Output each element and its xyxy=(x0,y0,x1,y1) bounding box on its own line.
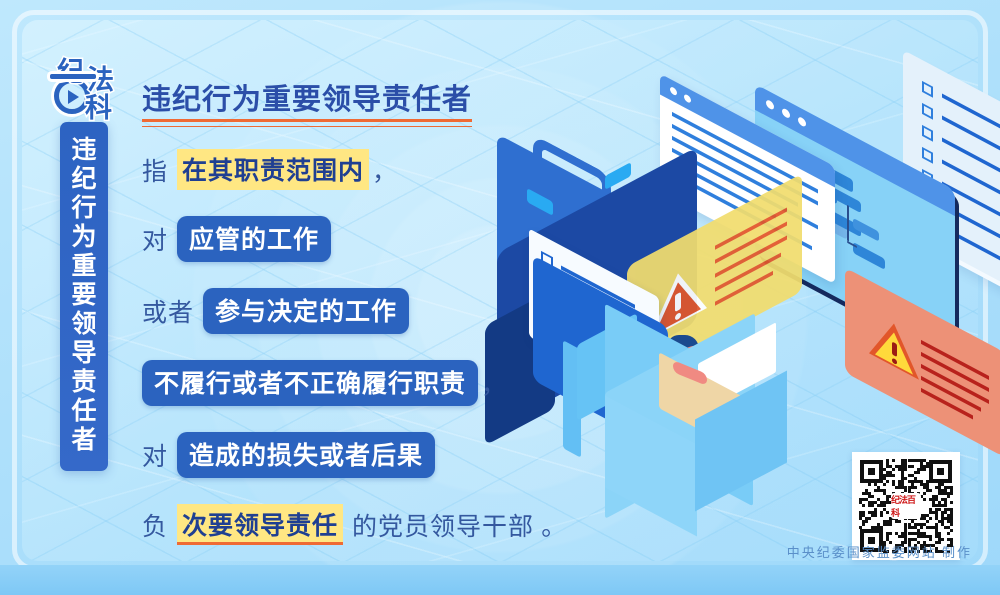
logo-bar xyxy=(50,74,96,79)
line6-prefix: 负 xyxy=(142,507,168,543)
line5-prefix: 对 xyxy=(142,437,168,473)
page-title: 违纪行为重要领导责任者 xyxy=(142,76,472,123)
qr-center-logo: 纪法百科 xyxy=(891,493,921,519)
definition-line-6: 负 次要领导责任 的党员领导干部 。 xyxy=(142,504,612,545)
line4-pill: 不履行或者不正确履行职责 xyxy=(142,360,478,406)
poster-root: 纪 法 科 违 纪 行 为 重 要 领 导 责 任 者 违纪行为重要领导责任者 … xyxy=(0,0,1000,595)
title-underline-thin xyxy=(142,126,472,128)
line5-pill: 造成的损失或者后果 xyxy=(177,432,435,478)
vertical-title-char: 行 xyxy=(60,194,108,223)
definition-line-2: 对 应管的工作 xyxy=(142,216,612,262)
qr-matrix: 纪法百科 xyxy=(859,459,953,553)
vertical-title-char: 为 xyxy=(60,223,108,252)
window-dot-icon xyxy=(684,93,691,104)
line1-prefix: 指 xyxy=(142,152,168,188)
vertical-title-char: 重 xyxy=(60,252,108,281)
main-content: 违纪行为重要领导责任者 指 在其职责范围内 ， 对 应管的工作 或者 参与决定的… xyxy=(142,76,612,545)
line4-suffix: ， xyxy=(478,365,507,401)
line6-highlight: 次要领导责任 xyxy=(177,504,343,545)
play-icon xyxy=(68,90,79,104)
logo-char-ji: 纪 xyxy=(57,50,84,89)
title-underline-thick xyxy=(142,119,472,122)
definition-line-4: 不履行或者不正确履行职责 ， xyxy=(142,360,612,406)
vertical-title-char: 违 xyxy=(60,136,108,165)
orgchart-node xyxy=(853,218,879,242)
page-title-text: 违纪行为重要领导责任者 xyxy=(142,84,472,116)
line2-pill: 应管的工作 xyxy=(177,216,331,262)
definition-line-5: 对 造成的损失或者后果 xyxy=(142,432,612,478)
bottom-strip xyxy=(0,565,1000,595)
brand-column: 纪 法 科 违 纪 行 为 重 要 领 导 责 任 者 xyxy=(48,48,134,471)
vertical-title-char: 领 xyxy=(60,310,108,339)
line1-suffix: ， xyxy=(369,152,398,188)
definition-line-3: 或者 参与决定的工作 xyxy=(142,288,612,334)
window-dot-icon xyxy=(798,116,806,128)
window-dot-icon xyxy=(766,99,774,111)
line1-highlight: 在其职责范围内 xyxy=(177,149,369,190)
jifa-baike-logo: 纪 法 科 xyxy=(48,48,132,120)
warning-triangle-icon xyxy=(869,310,919,380)
orgchart-node xyxy=(853,242,885,270)
line3-pill: 参与决定的工作 xyxy=(203,288,409,334)
orgchart-connector xyxy=(847,205,849,242)
logo-char-ke: 科 xyxy=(85,86,112,125)
vertical-title-char: 责 xyxy=(60,368,108,397)
footer-credit: 中央纪委国家监委网站 制作 xyxy=(787,542,972,561)
line2-prefix: 对 xyxy=(142,221,168,257)
window-dot-icon xyxy=(782,107,790,119)
definition-line-1: 指 在其职责范围内 ， xyxy=(142,149,612,190)
window-dot-icon xyxy=(670,86,677,97)
line6-suffix: 的党员领导干部 。 xyxy=(352,507,567,543)
vertical-title-bar: 违 纪 行 为 重 要 领 导 责 任 者 xyxy=(60,122,108,471)
line3-prefix: 或者 xyxy=(142,293,194,329)
vertical-title-char: 导 xyxy=(60,339,108,368)
vertical-title-char: 任 xyxy=(60,397,108,426)
vertical-title-char: 纪 xyxy=(60,165,108,194)
vertical-title-char: 者 xyxy=(60,426,108,455)
vertical-title-char: 要 xyxy=(60,281,108,310)
